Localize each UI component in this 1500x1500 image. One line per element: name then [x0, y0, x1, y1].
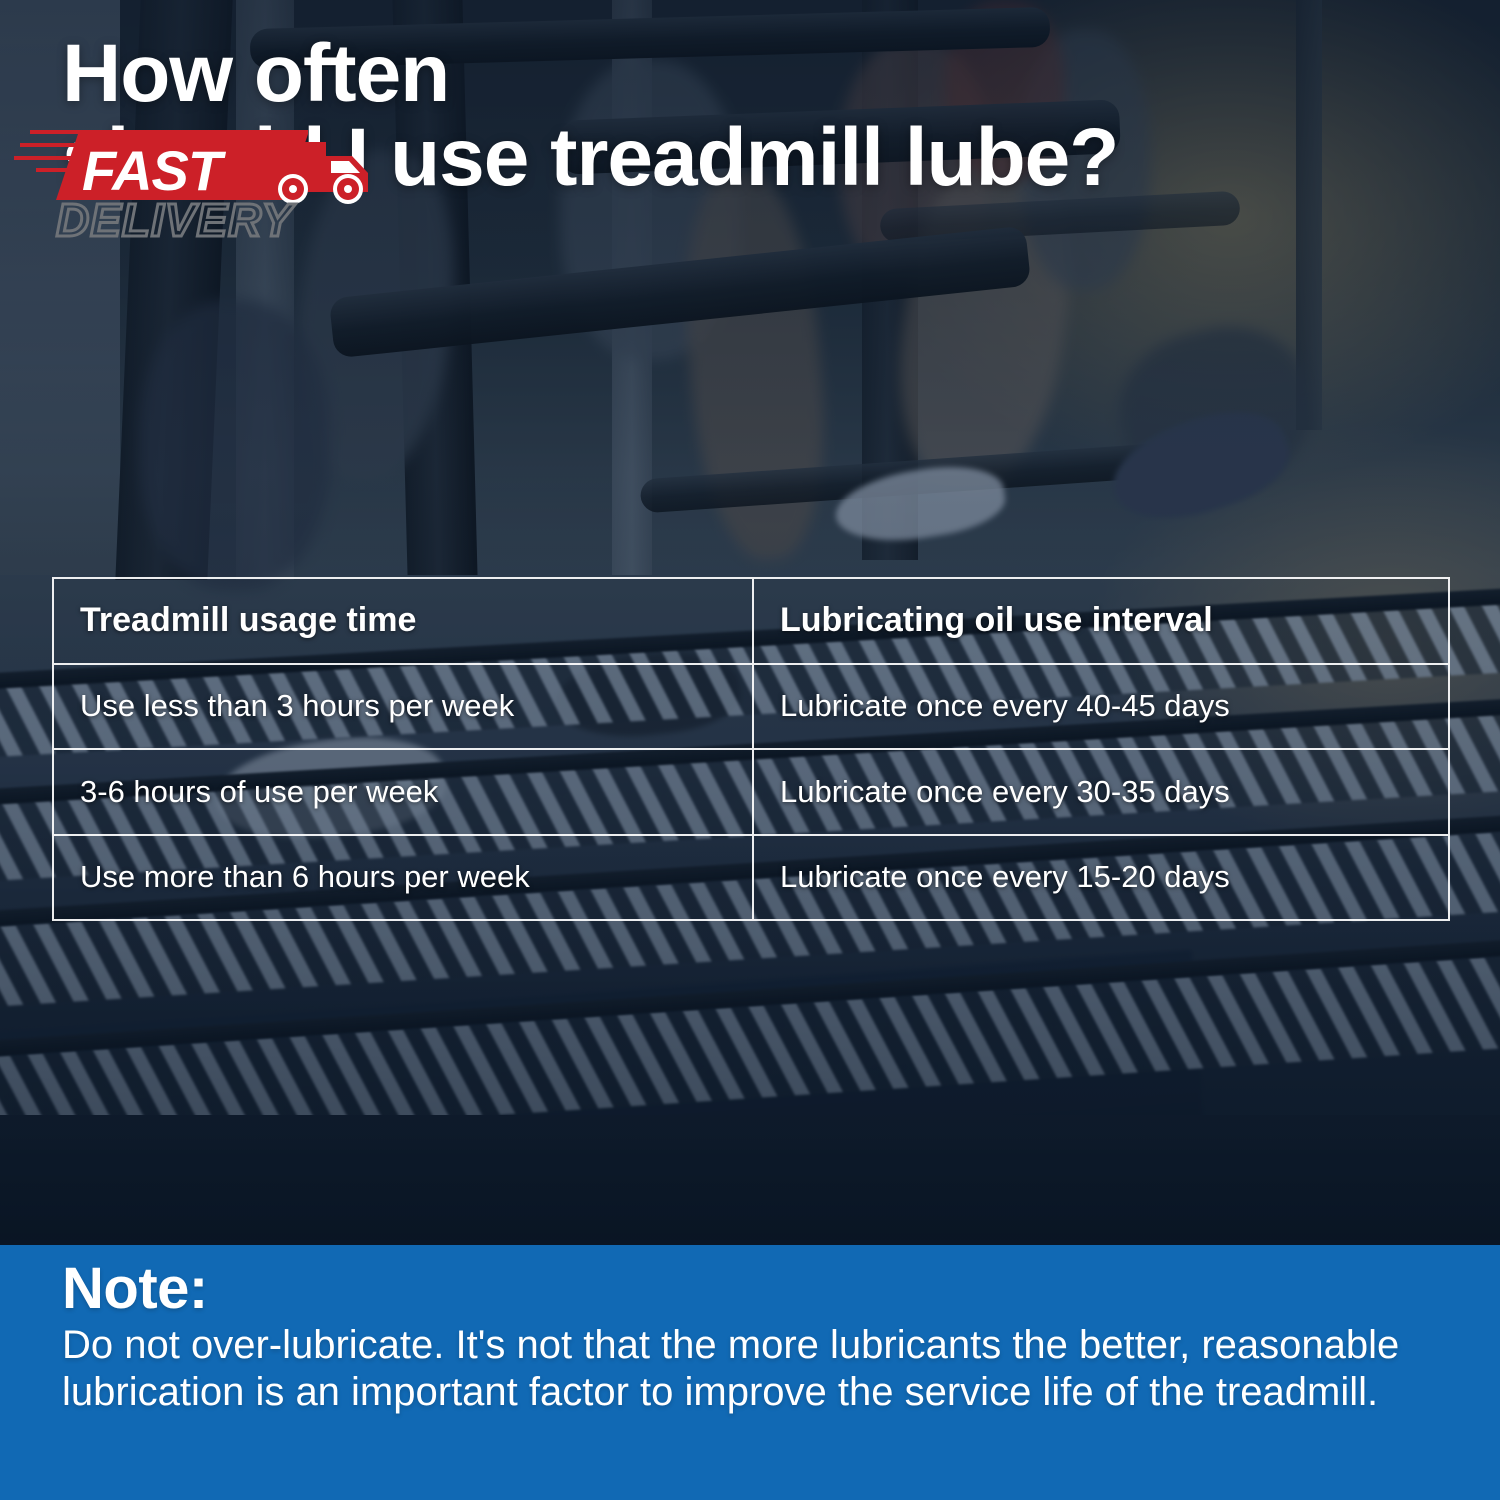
table-header-row: Treadmill usage time Lubricating oil use… [54, 579, 1448, 665]
title-line-1: How often [62, 28, 449, 119]
cell-usage-time: Use more than 6 hours per week [54, 836, 754, 920]
cell-oil-interval: Lubricate once every 40-45 days [754, 665, 1448, 749]
column-header-usage-time: Treadmill usage time [54, 579, 754, 663]
lubrication-schedule-table: Treadmill usage time Lubricating oil use… [52, 577, 1450, 921]
note-title: Note: [62, 1259, 1440, 1320]
table-row: Use less than 3 hours per week Lubricate… [54, 665, 1448, 751]
cell-oil-interval: Lubricate once every 15-20 days [754, 836, 1448, 920]
cell-usage-time: Use less than 3 hours per week [54, 665, 754, 749]
cell-oil-interval: Lubricate once every 30-35 days [754, 750, 1448, 834]
infographic-page: How often should I use treadmill lube? [0, 0, 1500, 1500]
logo-word-fast: FAST [82, 139, 227, 202]
table-row: Use more than 6 hours per week Lubricate… [54, 836, 1448, 920]
column-header-oil-interval: Lubricating oil use interval [754, 579, 1448, 663]
table-row: 3-6 hours of use per week Lubricate once… [54, 750, 1448, 836]
note-body: Do not over-lubricate. It's not that the… [62, 1322, 1440, 1416]
note-section: Note: Do not over-lubricate. It's not th… [0, 1245, 1500, 1500]
cell-usage-time: 3-6 hours of use per week [54, 750, 754, 834]
logo-word-delivery: DELIVERY [56, 194, 297, 246]
fast-delivery-logo: FAST DELIVERY [8, 118, 388, 248]
